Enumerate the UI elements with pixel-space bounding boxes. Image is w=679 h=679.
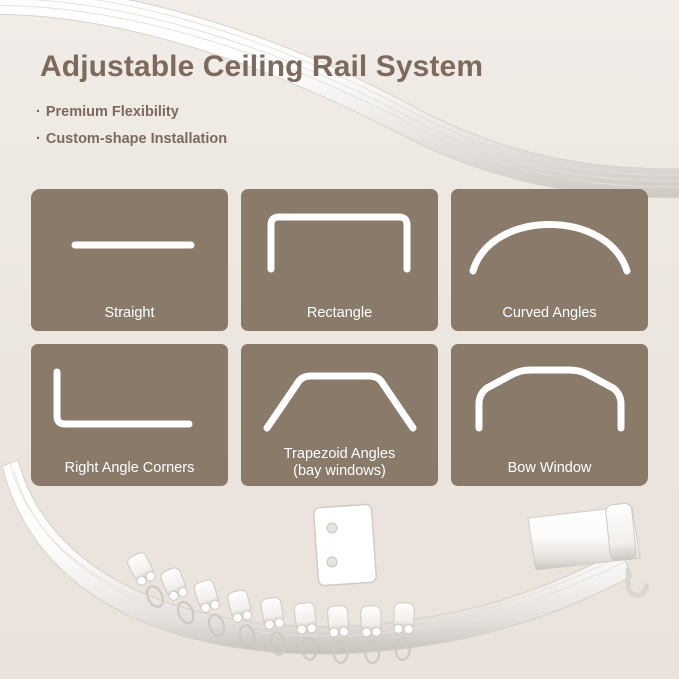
shape-card-right-angle-corners[interactable]: Right Angle Corners: [31, 344, 228, 486]
feature-item-2: ·Custom-shape Installation: [36, 131, 456, 147]
feature-item-1: ·Premium Flexibility: [36, 104, 456, 120]
trapezoid-rail-icon: [241, 344, 438, 444]
shape-card-straight[interactable]: Straight: [31, 189, 228, 331]
ceiling-mount-bracket: [313, 504, 376, 586]
feature-label-2: Custom-shape Installation: [46, 131, 227, 147]
shape-card-label-line1: Trapezoid Angles: [241, 446, 438, 463]
shape-card-label: Bow Window: [451, 460, 648, 477]
feature-list: ·Premium Flexibility ·Custom-shape Insta…: [36, 104, 456, 158]
shape-card-label: Curved Angles: [451, 305, 648, 322]
curved-rail-icon: [451, 189, 648, 289]
shape-card-label: Rectangle: [241, 305, 438, 322]
right-angle-rail-icon: [31, 344, 228, 444]
shape-card-label: Right Angle Corners: [31, 460, 228, 477]
shape-card-bow-window[interactable]: Bow Window: [451, 344, 648, 486]
shape-card-label-line2: (bay windows): [241, 463, 438, 480]
shape-card-curved-angles[interactable]: Curved Angles: [451, 189, 648, 331]
shape-card-rectangle[interactable]: Rectangle: [241, 189, 438, 331]
shape-card-label: Trapezoid Angles (bay windows): [241, 446, 438, 480]
straight-rail-icon: [31, 189, 228, 289]
shape-card-trapezoid-angles[interactable]: Trapezoid Angles (bay windows): [241, 344, 438, 486]
shape-card-label: Straight: [31, 305, 228, 322]
rectangle-rail-icon: [241, 189, 438, 289]
bullet-dot-icon: ·: [36, 131, 41, 147]
feature-label-1: Premium Flexibility: [46, 104, 179, 120]
shape-options-grid: Straight Rectangle Curved Angles Right A…: [31, 189, 648, 486]
product-infographic: Adjustable Ceiling Rail System ·Premium …: [0, 0, 679, 679]
bow-window-rail-icon: [451, 344, 648, 444]
bullet-dot-icon: ·: [36, 104, 41, 120]
carrier-group: [126, 551, 415, 664]
top-rail-photo: [0, 0, 679, 200]
rail-end-section: [528, 503, 646, 595]
page-title: Adjustable Ceiling Rail System: [40, 50, 483, 84]
